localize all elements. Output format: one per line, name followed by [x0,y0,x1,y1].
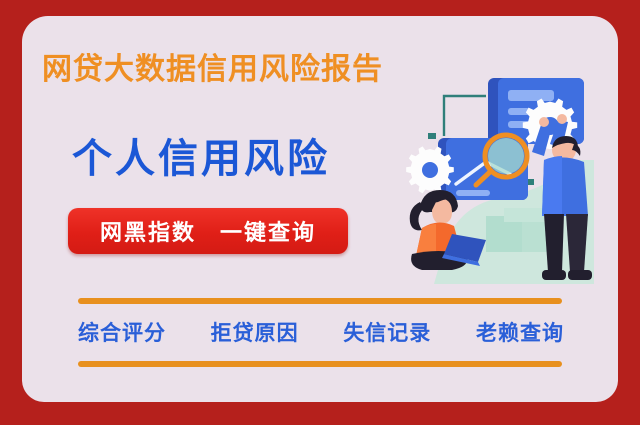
feature-list: 综合评分 拒贷原因 失信记录 老赖查询 [78,312,564,352]
illustration [382,56,618,306]
query-cta-button[interactable]: 网黑指数 一键查询 [68,208,348,254]
poster-root: 网贷大数据信用风险报告 个人信用风险 网黑指数 一键查询 综合评分 拒贷原因 失… [0,0,640,425]
poster-panel: 网贷大数据信用风险报告 个人信用风险 网黑指数 一键查询 综合评分 拒贷原因 失… [22,16,618,402]
query-cta-label: 网黑指数 一键查询 [100,215,316,247]
feature-item-score[interactable]: 综合评分 [78,317,166,347]
feature-item-default-record[interactable]: 失信记录 [343,317,431,347]
feature-item-rejection-reason[interactable]: 拒贷原因 [211,317,299,347]
divider-bottom [78,361,562,367]
feature-item-debtor-lookup[interactable]: 老赖查询 [476,317,564,347]
